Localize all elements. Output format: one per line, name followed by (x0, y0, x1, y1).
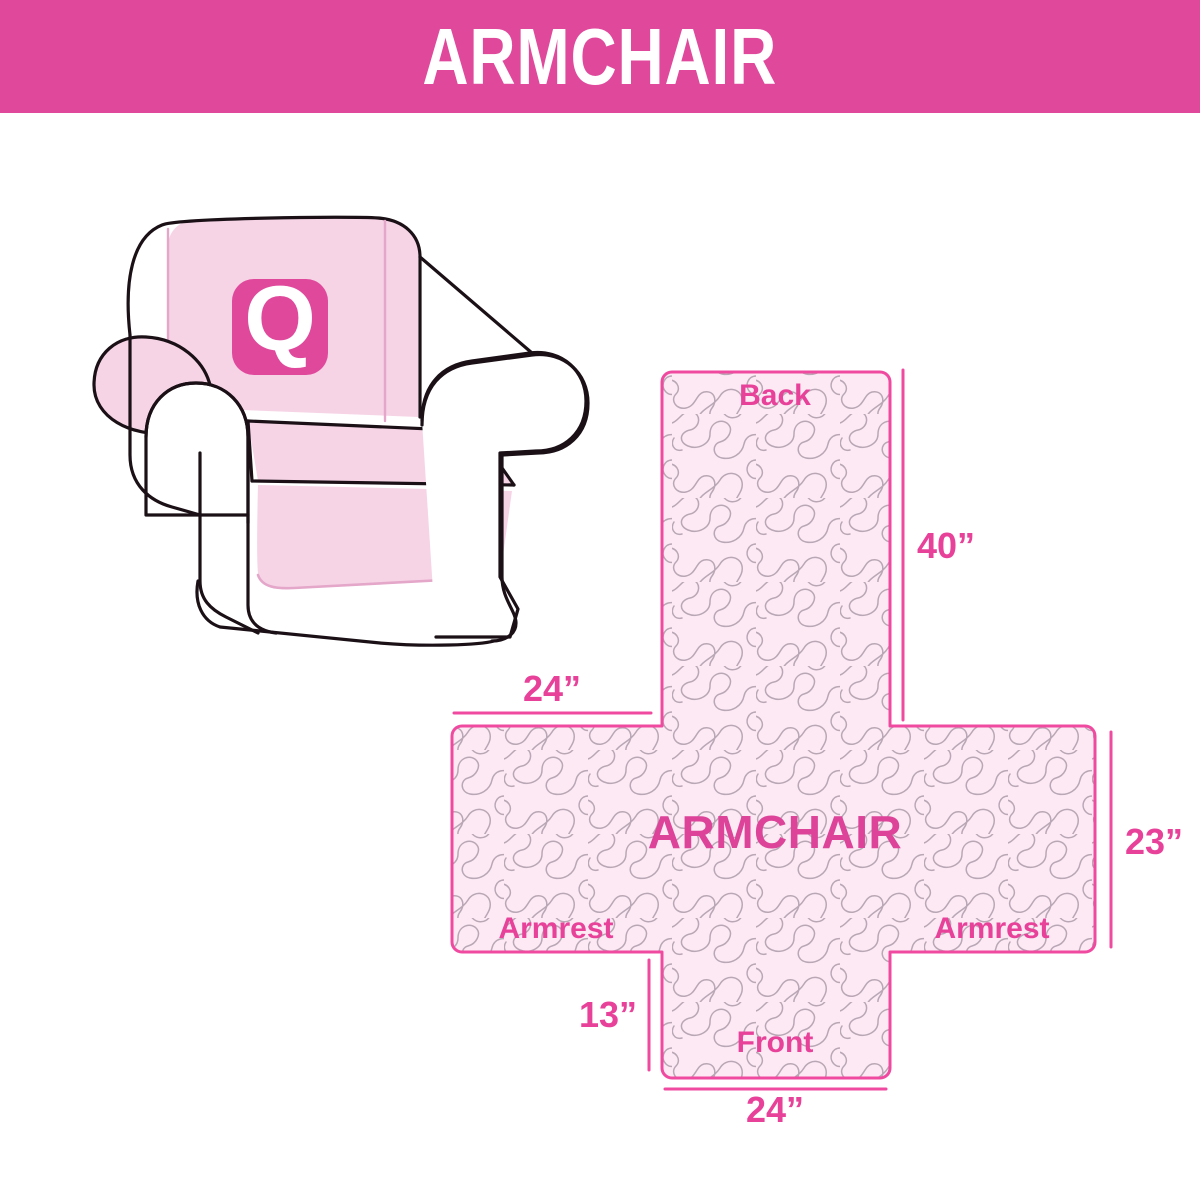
q-logo-letter: Q (244, 268, 316, 370)
dimension-label-24-bottom: 24” (746, 1089, 804, 1130)
dimension-label-24-top: 24” (523, 668, 581, 709)
dimension-armrest-width: 24” (454, 668, 651, 713)
dimension-label-13: 13” (579, 994, 637, 1035)
page-title: ARMCHAIR (423, 17, 778, 97)
dimension-label-23: 23” (1125, 821, 1183, 862)
chair-left-arm-inner (146, 383, 248, 515)
dimension-front-height: 13” (579, 960, 649, 1070)
dimension-body-height: 23” (1111, 732, 1183, 947)
brand-logo: Q (232, 268, 328, 375)
panel-label-back: Back (739, 379, 811, 412)
diagram-center-label: ARMCHAIR (648, 806, 902, 858)
panel-label-armrest-left: Armrest (498, 912, 613, 945)
size-guide-page: ARMCHAIR (0, 0, 1200, 1200)
panel-label-armrest-right: Armrest (934, 912, 1049, 945)
dimension-back-height: 40” (903, 370, 975, 720)
dimension-label-40: 40” (917, 525, 975, 566)
cover-flatlay-svg: Back Armrest Armrest Front ARMCHAIR 40” … (420, 330, 1200, 1130)
dimension-front-width: 24” (665, 1089, 886, 1130)
panel-label-front: Front (737, 1026, 814, 1059)
header-banner: ARMCHAIR (0, 0, 1200, 113)
cover-flatlay-diagram: Back Armrest Armrest Front ARMCHAIR 40” … (420, 330, 1200, 1130)
cover-cross-shape (452, 372, 1095, 1078)
